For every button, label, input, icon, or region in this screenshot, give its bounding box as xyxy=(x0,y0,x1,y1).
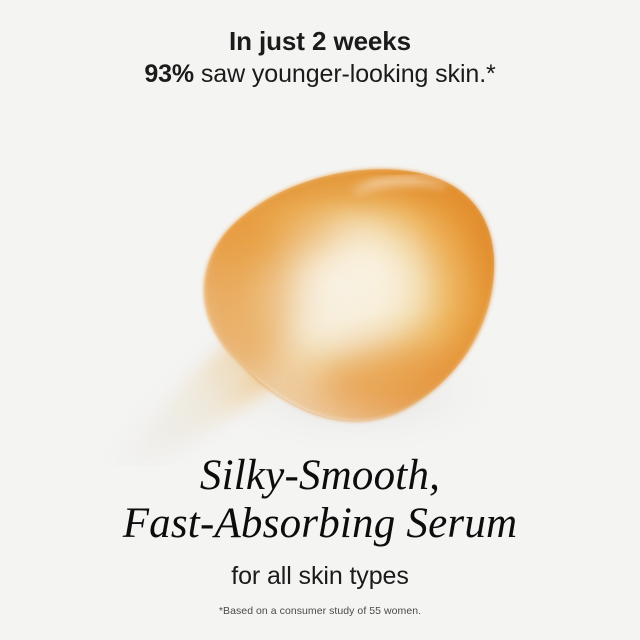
header-block: In just 2 weeks 93% saw younger-looking … xyxy=(0,24,640,90)
headline-secondary-rest: saw younger-looking skin.* xyxy=(194,60,496,88)
ad-creative: In just 2 weeks 93% saw younger-looking … xyxy=(0,0,640,640)
product-subhead: for all skin types xyxy=(0,560,640,592)
serum-swatch-svg xyxy=(0,86,640,466)
footnote-disclaimer: *Based on a consumer study of 55 women. xyxy=(0,605,640,617)
headline-primary: In just 2 weeks xyxy=(0,24,640,58)
serum-swatch-artwork xyxy=(0,86,640,466)
product-headline-line2: Fast-Absorbing Serum xyxy=(0,500,640,548)
stat-percentage: 93% xyxy=(144,60,194,88)
footer-block: Silky-Smooth, Fast-Absorbing Serum for a… xyxy=(0,452,640,592)
product-headline-line1: Silky-Smooth, xyxy=(0,452,640,500)
